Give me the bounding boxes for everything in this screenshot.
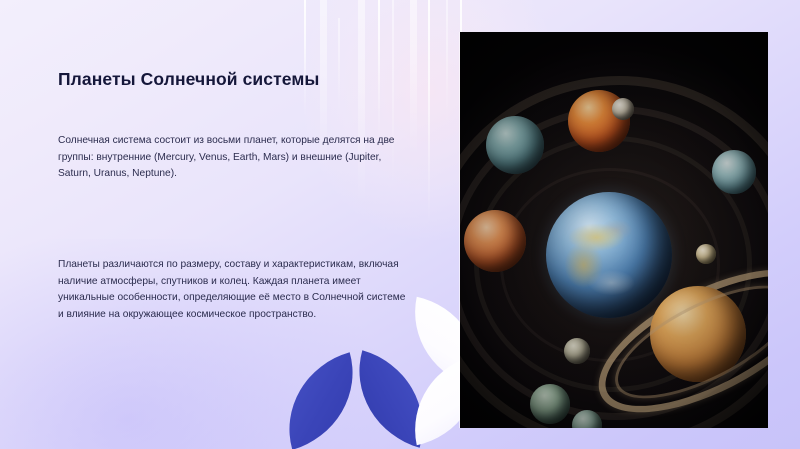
moon-lower-left: [530, 384, 570, 424]
slide: Планеты Солнечной системы Солнечная сист…: [0, 0, 800, 449]
moon-upper: [612, 98, 634, 120]
page-title: Планеты Солнечной системы: [58, 69, 398, 91]
moon-lower-center: [564, 338, 590, 364]
blue-petal-right-icon: [341, 350, 441, 448]
body-paragraph-2: Планеты различаются по размеру, составу …: [58, 257, 412, 323]
moon-right: [696, 244, 716, 264]
light-streaks-decoration: [300, 0, 470, 230]
planet-uranus: [712, 150, 756, 194]
blue-petal-left-icon: [271, 352, 371, 449]
planet-earth: [546, 192, 672, 318]
planet-venus: [464, 210, 526, 272]
solar-system-photo: [460, 32, 768, 428]
planet-neptune: [486, 116, 544, 174]
body-paragraph-1: Солнечная система состоит из восьми план…: [58, 133, 412, 183]
